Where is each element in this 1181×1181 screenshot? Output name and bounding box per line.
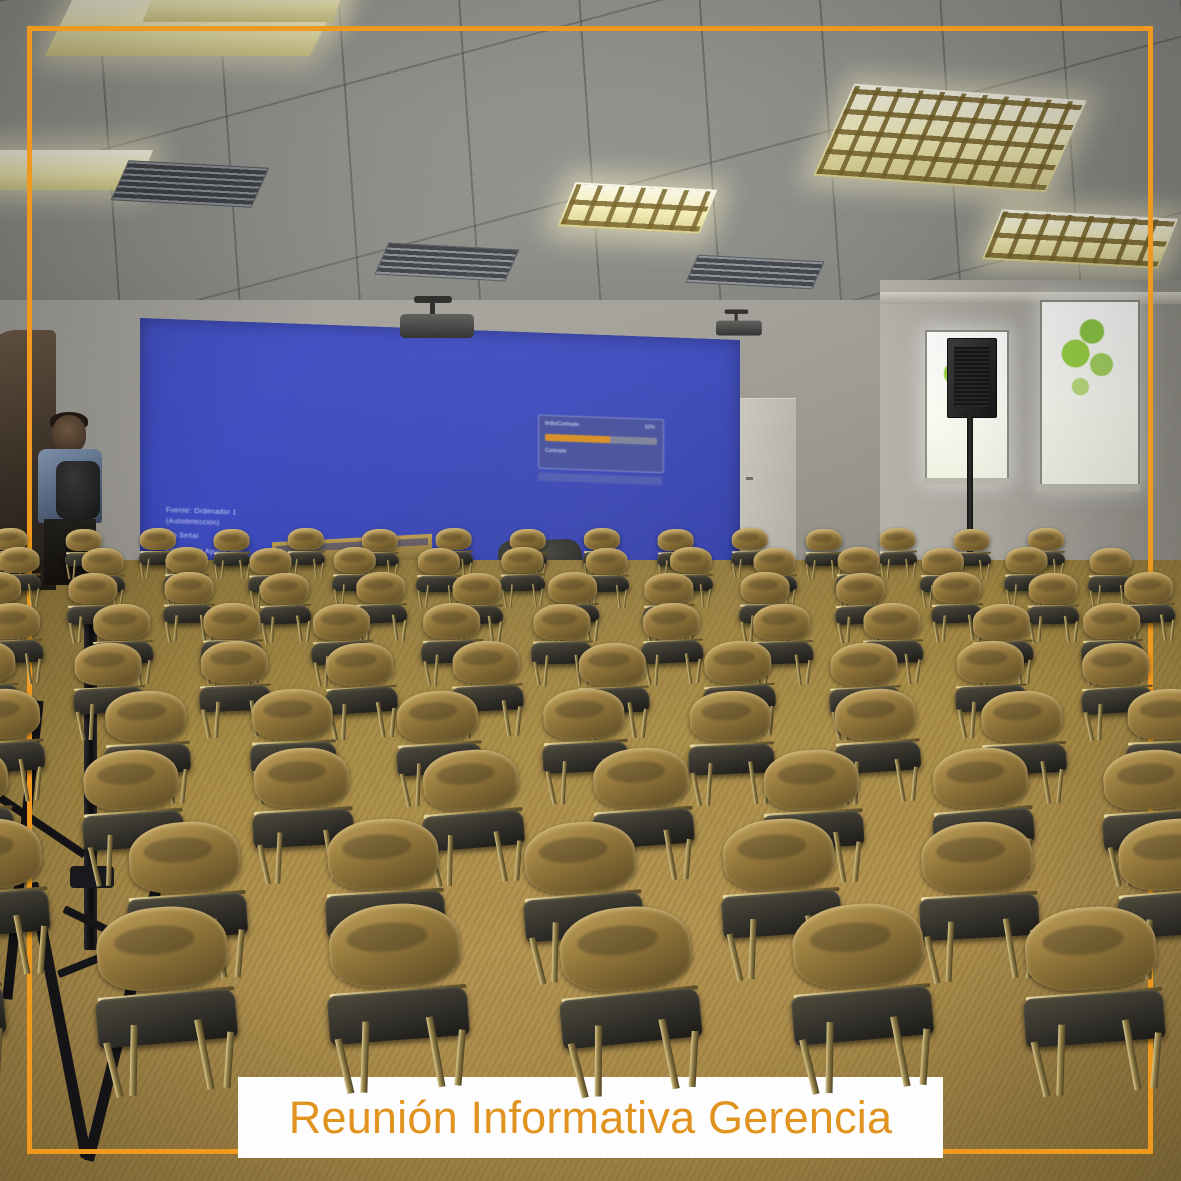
chair-leg xyxy=(454,1029,466,1085)
chair-backrest xyxy=(0,602,41,641)
chair-seat xyxy=(1023,989,1166,1048)
chair-leg xyxy=(623,590,628,608)
chair-backrest xyxy=(556,901,694,995)
chair-leg xyxy=(106,835,113,886)
chair-backrest xyxy=(922,548,964,575)
chair-leg xyxy=(103,1042,123,1098)
caption-text: Reunión Informativa Gerencia xyxy=(289,1095,892,1140)
chair-backrest xyxy=(0,815,44,894)
chair-backrest xyxy=(451,639,521,685)
chair-leg xyxy=(641,709,648,738)
chair-leg xyxy=(1084,712,1094,741)
chair-leg xyxy=(986,564,990,579)
chair-leg xyxy=(707,589,712,607)
chair-leg xyxy=(76,711,86,740)
chair-backrest xyxy=(720,815,836,892)
chair-backrest xyxy=(501,546,544,574)
chair-leg xyxy=(69,622,76,643)
chair-backrest xyxy=(931,744,1030,811)
chair-backrest xyxy=(312,603,371,642)
chair-leg xyxy=(799,1039,819,1095)
chair-backrest xyxy=(253,745,351,809)
chair-seat xyxy=(879,551,917,565)
chair-backrest xyxy=(92,603,151,641)
folding-chair xyxy=(1013,901,1175,1098)
chair-backrest xyxy=(396,689,479,744)
chair-backrest xyxy=(325,816,440,892)
chair-leg xyxy=(853,842,862,883)
chair-backrest xyxy=(1029,572,1079,604)
chair-leg xyxy=(847,617,851,644)
chair-backrest xyxy=(956,640,1025,685)
chair-leg xyxy=(424,661,432,686)
folding-chair xyxy=(498,546,548,607)
chair-backrest xyxy=(741,571,791,603)
chair-leg xyxy=(1150,1032,1162,1088)
chair-leg xyxy=(741,621,747,642)
chair-leg xyxy=(1073,621,1078,642)
chair-backrest xyxy=(592,745,691,811)
chair-backrest xyxy=(732,528,768,551)
chair-backrest xyxy=(105,689,188,743)
chair-leg xyxy=(434,654,439,685)
chair-backrest xyxy=(82,747,181,813)
chair-backrest xyxy=(1102,747,1181,813)
chair-backrest xyxy=(0,639,17,686)
chair-leg xyxy=(561,761,568,804)
chair-backrest xyxy=(521,817,638,896)
chair-leg xyxy=(320,563,324,578)
chair-leg xyxy=(223,1032,234,1088)
chair-leg xyxy=(1031,1041,1051,1097)
chair-leg xyxy=(360,1022,369,1093)
chair-backrest xyxy=(325,641,395,688)
chair-leg xyxy=(341,703,346,740)
chair-leg xyxy=(1056,1025,1065,1096)
chair-backrest xyxy=(670,547,712,574)
folding-chair xyxy=(256,572,315,644)
chair-backrest xyxy=(326,899,463,990)
chair-backrest xyxy=(1127,688,1181,741)
chair-backrest xyxy=(543,687,626,741)
chair-leg xyxy=(89,703,94,740)
chair-backrest xyxy=(548,571,598,604)
chair-leg xyxy=(401,620,406,641)
folding-chair xyxy=(317,898,479,1095)
chair-leg xyxy=(933,621,940,642)
chair-leg xyxy=(129,1025,137,1096)
chair-backrest xyxy=(1005,546,1048,574)
folding-chair xyxy=(547,900,714,1100)
chair-leg xyxy=(919,1028,930,1084)
chair-backrest xyxy=(214,529,250,552)
chair-leg xyxy=(221,561,224,580)
chair-backrest xyxy=(68,572,118,604)
chair-backrest xyxy=(752,603,811,641)
chair-leg xyxy=(915,660,921,685)
chair-leg xyxy=(534,662,541,687)
chair-leg xyxy=(912,767,919,801)
chair-leg xyxy=(684,839,693,880)
folding-chair xyxy=(84,901,248,1099)
chair-backrest xyxy=(333,547,376,574)
chair-leg xyxy=(726,933,742,981)
chair-backrest xyxy=(1082,602,1141,640)
chair-leg xyxy=(36,767,43,801)
chair-leg xyxy=(942,615,946,642)
chair-leg xyxy=(515,707,522,736)
chair-leg xyxy=(400,773,412,807)
chair-backrest xyxy=(829,641,899,687)
chair-backrest xyxy=(200,640,269,685)
chair-leg xyxy=(958,709,967,738)
chair-backrest xyxy=(533,604,591,641)
chair-backrest xyxy=(0,546,40,574)
chair-backrest xyxy=(763,748,861,812)
chair-backrest xyxy=(260,572,310,605)
chair-backrest xyxy=(93,901,231,994)
chair-backrest xyxy=(863,602,921,639)
chair-backrest xyxy=(421,747,520,814)
chair-leg xyxy=(140,564,144,579)
chair-rows xyxy=(0,0,1181,1181)
chair-leg xyxy=(1038,616,1043,643)
chair-leg xyxy=(88,847,102,887)
chair-backrest xyxy=(203,602,261,639)
chair-backrest xyxy=(165,571,215,603)
chair-backrest xyxy=(0,571,22,604)
chair-leg xyxy=(825,1022,833,1093)
chair-leg xyxy=(335,1038,355,1094)
chair-leg xyxy=(1097,703,1102,740)
chair-backrest xyxy=(689,690,771,743)
chair-leg xyxy=(594,1026,601,1097)
chair-backrest xyxy=(126,818,242,895)
chair-backrest xyxy=(0,687,41,742)
chair-backrest xyxy=(1115,815,1181,894)
chair-backrest xyxy=(836,572,886,605)
chair-backrest xyxy=(422,602,481,640)
chair-seat xyxy=(327,986,470,1045)
chair-backrest xyxy=(981,689,1064,743)
chair-backrest xyxy=(1081,641,1151,688)
chair-backrest xyxy=(972,603,1031,642)
chair-leg xyxy=(165,621,171,642)
chair-leg xyxy=(0,1028,3,1084)
chair-backrest xyxy=(166,547,208,574)
chair-backrest xyxy=(919,818,1034,894)
chair-backrest xyxy=(249,547,292,575)
chair-backrest xyxy=(578,641,647,686)
chair-leg xyxy=(78,616,82,643)
chair-backrest xyxy=(789,898,927,991)
chair-backrest xyxy=(418,548,460,575)
chair-leg xyxy=(257,844,271,884)
chair-leg xyxy=(706,763,713,806)
chair-leg xyxy=(805,661,811,686)
chair-backrest xyxy=(932,571,982,603)
chair-backrest xyxy=(453,572,503,604)
chair-backrest xyxy=(1022,902,1159,993)
chair-leg xyxy=(732,564,737,579)
chair-leg xyxy=(202,709,211,738)
meeting-room-photo: Brillo/Contraste 50% Contraste Fuente: O… xyxy=(0,0,1181,1181)
chair-backrest xyxy=(81,548,124,575)
chair-backrest xyxy=(880,528,916,551)
chair-leg xyxy=(546,771,557,805)
chair-leg xyxy=(497,621,502,642)
chair-backrest xyxy=(1089,548,1132,575)
chair-leg xyxy=(654,654,659,685)
chair-backrest xyxy=(356,571,406,603)
chair-seat xyxy=(213,552,251,566)
chair-leg xyxy=(838,623,845,644)
chair-leg xyxy=(806,564,810,579)
photo-card: Brillo/Contraste 50% Contraste Fuente: O… xyxy=(0,0,1181,1181)
chair-leg xyxy=(529,936,546,984)
chair-seat xyxy=(259,604,312,625)
chair-seat xyxy=(1027,605,1080,624)
chair-leg xyxy=(689,1031,699,1087)
chair-leg xyxy=(568,1043,589,1099)
chair-backrest xyxy=(834,687,917,742)
chair-leg xyxy=(174,615,179,642)
chair-leg xyxy=(912,563,916,578)
chair-backrest xyxy=(642,602,701,641)
chair-backrest xyxy=(644,572,694,604)
chair-leg xyxy=(37,925,46,973)
chair-leg xyxy=(1170,619,1175,640)
folding-chair xyxy=(780,898,944,1096)
chair-backrest xyxy=(1124,571,1174,604)
chair-backrest xyxy=(73,641,143,687)
chair-backrest xyxy=(251,688,333,741)
chair-leg xyxy=(36,659,42,684)
chair-leg xyxy=(1057,769,1065,803)
chair-backrest xyxy=(0,744,10,811)
chair-backrest xyxy=(837,547,880,574)
chair-seat xyxy=(500,575,546,592)
chair-backrest xyxy=(703,639,773,686)
